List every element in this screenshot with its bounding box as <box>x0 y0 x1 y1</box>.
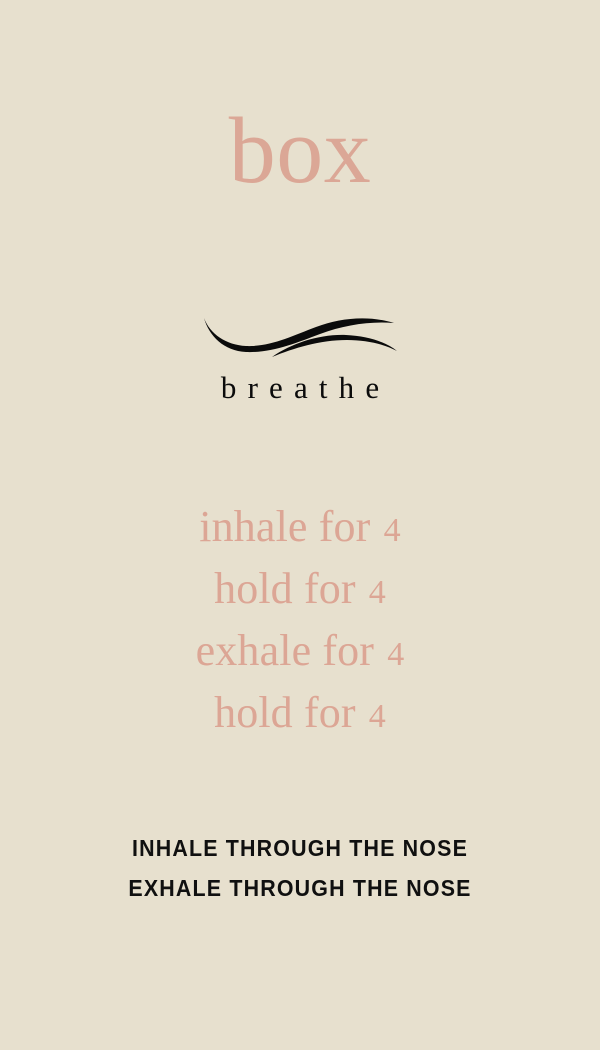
logo-block: breathe <box>0 312 600 403</box>
breathing-pattern-list: inhale for 4 hold for 4 exhale for 4 hol… <box>0 498 600 746</box>
logo-wordmark: breathe <box>0 372 600 403</box>
pattern-label: hold for <box>214 688 356 737</box>
pattern-line: hold for 4 <box>0 560 600 622</box>
footer-line-inhale: INHALE THROUGH THE NOSE <box>21 828 579 868</box>
pattern-label: hold for <box>214 564 356 613</box>
pattern-count: 4 <box>385 636 404 673</box>
pattern-count: 4 <box>367 698 386 735</box>
pattern-count: 4 <box>367 574 386 611</box>
pattern-label: exhale for <box>196 626 374 675</box>
page-title: box <box>229 104 371 198</box>
breath-wave-icon <box>200 312 400 358</box>
pattern-line: inhale for 4 <box>0 498 600 560</box>
pattern-line: hold for 4 <box>0 684 600 746</box>
title-block: box <box>0 104 600 198</box>
pattern-line: exhale for 4 <box>0 622 600 684</box>
pattern-count: 4 <box>382 512 401 549</box>
footer-instructions: INHALE THROUGH THE NOSE EXHALE THROUGH T… <box>0 828 600 908</box>
pattern-label: inhale for <box>199 502 370 551</box>
footer-line-exhale: EXHALE THROUGH THE NOSE <box>21 868 579 908</box>
breathing-exercise-card: box breathe inhale for 4 hold for 4 exha… <box>0 0 600 1050</box>
